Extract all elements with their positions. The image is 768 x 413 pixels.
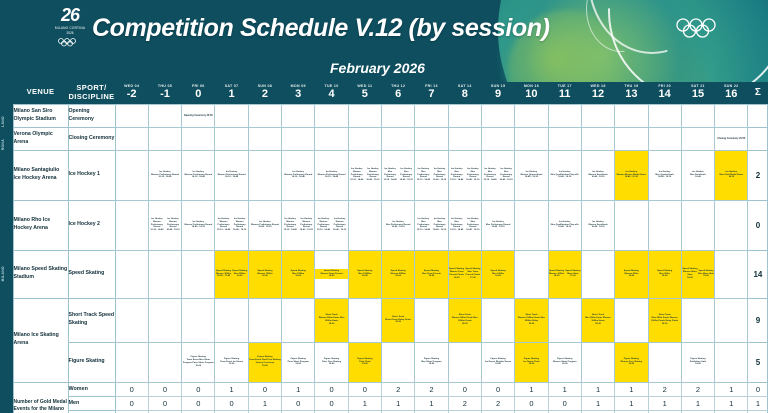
schedule-cell[interactable] [348, 200, 381, 250]
schedule-cell[interactable]: Ice HockeyWomen Preliminary Round12:10 -… [348, 150, 381, 200]
schedule-cell[interactable]: Ice HockeyMen Preliminary Round12:10 - 1… [415, 200, 448, 250]
medal-count-cell: 1 [581, 382, 614, 396]
medal-count-cell: 1 [748, 396, 768, 410]
session-entry[interactable]: Figure SkatingWomen Free Skating19:00 [615, 357, 647, 368]
medal-count-cell: 0 [115, 396, 148, 410]
session-entry[interactable]: Speed SkatingMen Mass Start15:00 [698, 267, 714, 281]
sport-discipline: Ice Hockey 2 [68, 200, 115, 250]
row-total: 2 [748, 150, 768, 200]
schedule-cell[interactable]: Figure SkatingTeam Event Men Short Progr… [182, 342, 215, 382]
medal-count-cell: 1 [715, 382, 748, 396]
schedule-cell[interactable] [581, 342, 614, 382]
medal-count-cell: 0 [748, 382, 768, 396]
session-entry[interactable]: Ice HockeyWomen Quarterfinals16:40 - 19:… [515, 170, 547, 181]
session-entry[interactable]: Ice HockeyMen Preliminary Round12:10 - 1… [449, 217, 465, 234]
schedule-cell[interactable] [115, 200, 148, 250]
session-entry[interactable]: Ice HockeyWomen Preliminary Round16:40 -… [332, 217, 348, 234]
session-entry[interactable]: Figure SkatingPairs Free Skating19:00 [315, 357, 347, 368]
schedule-cell[interactable] [715, 200, 748, 250]
session-entry[interactable]: Figure SkatingTeam Event Final Free Skat… [249, 355, 281, 369]
olympic-rings-icon [48, 38, 92, 47]
session-entry[interactable]: Speed SkatingWomen Team Pursuit16:00 [315, 269, 347, 280]
session-entry[interactable]: Ice HockeyWomen Preliminary Round16:40 -… [298, 217, 314, 234]
schedule-cell[interactable] [248, 104, 281, 127]
medal-count-cell: 1 [581, 396, 614, 410]
day-column-header-16[interactable]: SUN 2216 [715, 82, 748, 104]
session-entry[interactable]: Speed SkatingWomen Team Pursuit Finals16… [449, 267, 465, 281]
table-row: MILANOMilano San Siro Olympic StadiumOpe… [0, 104, 768, 127]
schedule-cell[interactable] [182, 298, 215, 342]
session-entry[interactable]: Figure SkatingIce Dance Rhythm Dance19:0… [482, 357, 514, 368]
medal-count-cell: 1 [615, 396, 648, 410]
schedule-cell[interactable] [348, 127, 381, 150]
schedule-cell[interactable]: Ice HockeyWomen Preliminary Round12:10 -… [315, 200, 348, 250]
schedule-cell[interactable]: Figure SkatingIce Dance Final19:00 [515, 342, 548, 382]
schedule-cell[interactable] [715, 342, 748, 382]
medal-count-cell: 0 [515, 396, 548, 410]
day-column-header-8[interactable]: SAT 148 [448, 82, 481, 104]
schedule-cell[interactable]: Ice HockeyWomen Preliminary Round16:40 -… [248, 200, 281, 250]
medal-count-row: Number of Gold Medal Events for the Mila… [0, 382, 768, 396]
session-entry[interactable]: Ice HockeyWomen Bronze Medal Game16:40 -… [615, 170, 647, 181]
schedule-cell[interactable]: Speed SkatingMen 1500m16:00 [282, 250, 315, 298]
logo-mark: 26 [48, 6, 92, 24]
session-entry[interactable]: Ice HockeyWomen Preliminary Round16:40 -… [182, 220, 214, 231]
schedule-cell[interactable] [248, 298, 281, 342]
medal-count-cell: 0 [315, 396, 348, 410]
schedule-cell[interactable] [581, 104, 614, 127]
session-entry[interactable]: Ice HockeyMen Preliminary Round16:40 - 1… [482, 220, 514, 231]
medal-count-cell: 0 [448, 382, 481, 396]
schedule-cell[interactable] [515, 200, 548, 250]
session-entry[interactable]: Ice HockeyMen Preliminary Round16:40 - 1… [431, 167, 447, 184]
schedule-cell[interactable] [215, 104, 248, 127]
schedule-cell[interactable]: Ice HockeyWomen Preliminary Round12:10 -… [148, 200, 181, 250]
schedule-cell[interactable] [548, 104, 581, 127]
schedule-cell[interactable] [415, 127, 448, 150]
medal-count-cell: 0 [548, 396, 581, 410]
schedule-cell[interactable] [115, 298, 148, 342]
day-column-header-6[interactable]: THU 126 [382, 82, 415, 104]
medal-count-cell: 0 [115, 382, 148, 396]
schedule-cell[interactable] [715, 104, 748, 127]
session-entry[interactable]: Figure SkatingTeam Event Ice Dance10:00 [215, 357, 247, 368]
medal-count-cell: 1 [515, 382, 548, 396]
session-entry[interactable]: Speed SkatingWomen Mass Start14:00 [682, 267, 698, 281]
schedule-cell[interactable]: Speed SkatingMen Team Pursuit16:00 [415, 250, 448, 298]
session-entry[interactable]: Speed SkatingWomen 500m16:00 [615, 269, 647, 280]
schedule-cell[interactable]: Opening Ceremony 20:00 [182, 104, 215, 127]
schedule-cell[interactable] [481, 104, 514, 127]
session-entry[interactable]: Figure SkatingTeam Event Men Short Progr… [182, 355, 214, 369]
schedule-cell[interactable] [282, 104, 315, 127]
schedule-cell[interactable] [715, 250, 748, 298]
schedule-cell[interactable]: Ice HockeyMen Gold Medal Game14:10 [715, 150, 748, 200]
page-banner: 26 MILANO CORTINA 2026 Competition Sched… [0, 0, 768, 82]
session-entry[interactable]: Speed SkatingMen 1000m16:00 [482, 269, 514, 280]
schedule-cell[interactable] [182, 127, 215, 150]
day-column-header-0[interactable]: FRI 060 [182, 82, 215, 104]
schedule-cell[interactable]: Speed SkatingMen 1000m16:00 [481, 250, 514, 298]
medal-count-cell: 2 [481, 396, 514, 410]
schedule-cell[interactable]: Ice HockeyWomen Preliminary Round12:10 -… [215, 200, 248, 250]
session-entry[interactable]: Ice HockeyWomen Preliminary Round16:10 -… [149, 170, 181, 181]
sport-discipline: Ice Hockey 1 [68, 150, 115, 200]
page-title: Competition Schedule V.12 (by session) [92, 14, 550, 43]
row-total: 14 [748, 250, 768, 298]
schedule-cell[interactable]: Ice HockeyWomen Preliminary Round16:10 -… [182, 150, 215, 200]
schedule-cell[interactable] [115, 127, 148, 150]
day-column-header-13[interactable]: THU 1913 [615, 82, 648, 104]
schedule-cell[interactable] [315, 127, 348, 150]
day-column-header-2[interactable]: SUN 082 [248, 82, 281, 104]
schedule-cell[interactable]: Speed SkatingMen 500m16:00 [648, 250, 681, 298]
schedule-cell[interactable] [382, 127, 415, 150]
medal-row-label: Men [68, 396, 115, 410]
schedule-cell[interactable] [148, 298, 181, 342]
table-header: VENUESPORT/DISCIPLINEWED 04-2THU 05-1FRI… [0, 82, 768, 104]
session-entry[interactable]: Speed SkatingWomen 1000m16:00 [549, 269, 565, 280]
schedule-cell[interactable]: Speed SkatingWomen Mass Start14:00Speed … [681, 250, 714, 298]
schedule-cell[interactable]: Ice HockeyMen Qualification Play-offs16:… [548, 150, 581, 200]
session-entry[interactable]: Ice HockeyMen Preliminary Round16:40 - 1… [465, 167, 481, 184]
session-entry[interactable]: Speed SkatingMen 1500m16:00 [282, 269, 314, 280]
sport-discipline: Speed Skating [68, 250, 115, 298]
schedule-cell[interactable]: Ice HockeyMen Qualification Play-offs16:… [548, 200, 581, 250]
schedule-cell[interactable]: Ice HockeyWomen Quarterfinals16:40 - 19:… [515, 150, 548, 200]
day-column-header--1[interactable]: THU 05-1 [148, 82, 181, 104]
schedule-cell[interactable]: Figure SkatingTeam Event Final Free Skat… [248, 342, 281, 382]
schedule-cell[interactable]: Short TrackWomen 1500m Finals Men 5000m … [515, 298, 548, 342]
session-entry[interactable]: Figure SkatingPairs Final19:00 [349, 357, 381, 368]
session-entry[interactable]: Speed SkatingWomen 3000m16:00 - 17:45 [215, 269, 231, 280]
session-entry[interactable]: Ice HockeyMen Preliminary Round12:10 - 1… [415, 167, 431, 184]
schedule-cell[interactable]: Figure SkatingPairs Short Program19:00 [282, 342, 315, 382]
session-entry[interactable]: Ice HockeyWomen Preliminary Round12:10 -… [349, 167, 365, 184]
session-entry[interactable]: Ice HockeyWomen Semifinals16:40 - 19:10 [582, 170, 614, 181]
schedule-cell[interactable] [515, 127, 548, 150]
medal-count-cell: 2 [448, 396, 481, 410]
table-row: VERONAVerona Olympic ArenaClosing Ceremo… [0, 127, 768, 150]
day-column-header-12[interactable]: WED 1812 [581, 82, 614, 104]
medal-count-cell: 2 [382, 382, 415, 396]
schedule-cell[interactable] [115, 342, 148, 382]
medal-count-cell: 0 [481, 382, 514, 396]
medal-count-cell: 0 [182, 396, 215, 410]
schedule-page: 26 MILANO CORTINA 2026 Competition Sched… [0, 0, 768, 413]
schedule-cell[interactable]: Short TrackMixed Team Relay Finals18:30 [382, 298, 415, 342]
session-entry[interactable]: Short TrackWomen 1500m Finals Men 5000m … [515, 313, 547, 327]
venue-name: Milano San Siro Olympic Stadium [13, 104, 68, 127]
session-entry[interactable]: Ice HockeyMen Qualification Play-offs16:… [549, 220, 581, 231]
schedule-cell[interactable] [248, 127, 281, 150]
schedule-cell[interactable]: Speed SkatingWomen 1000m16:00Speed Skati… [548, 250, 581, 298]
venue-name: Milano Speed Skating Stadium [13, 250, 68, 298]
medal-count-cell: 0 [148, 382, 181, 396]
day-column-header-1[interactable]: SAT 071 [215, 82, 248, 104]
session-entry[interactable]: Ice HockeyWomen Preliminary Round16:10 -… [182, 170, 214, 181]
venue-name: Milano Santagiulio Ice Hockey Arena [13, 150, 68, 200]
session-entry[interactable]: Short TrackWomen 500m Heats Men 1000m He… [315, 313, 347, 327]
session-entry[interactable]: Ice HockeyWomen Preliminary Round16:10 -… [215, 170, 247, 181]
session-entry[interactable]: Ice HockeyMen Preliminary Round12:10 - 1… [449, 167, 465, 184]
total-column-header: Σ [748, 82, 768, 104]
schedule-cell[interactable] [615, 200, 648, 250]
venue-name: Milano Ice Skating Arena [13, 298, 68, 382]
medal-count-cell: 0 [248, 382, 281, 396]
session-entry[interactable]: Speed SkatingMen Team Pursuit16:00 [415, 269, 447, 280]
schedule-cell[interactable] [415, 104, 448, 127]
session-entry[interactable]: Speed SkatingMen 500m16:00 [649, 269, 681, 280]
day-column-header-11[interactable]: TUE 1711 [548, 82, 581, 104]
schedule-cell[interactable] [548, 127, 581, 150]
schedule-cell[interactable] [348, 104, 381, 127]
schedule-cell[interactable]: Figure SkatingPairs Free Skating19:00 [315, 342, 348, 382]
schedule-cell[interactable] [581, 250, 614, 298]
session-entry[interactable]: Ice HockeyWomen Semifinals16:40 - 19:10 [582, 220, 614, 231]
schedule-cell[interactable] [681, 127, 714, 150]
session-entry[interactable]: Ice HockeyMen Preliminary Round16:40 - 1… [382, 220, 414, 231]
schedule-cell[interactable] [648, 104, 681, 127]
session-entry[interactable]: Ice HockeyWomen Preliminary Round16:40 -… [232, 217, 248, 234]
session-entry[interactable]: Speed SkatingMen 5000m16:00 [232, 269, 248, 280]
session-entry[interactable]: Figure SkatingExhibition Gala14:00 [682, 357, 714, 368]
schedule-cell[interactable] [215, 127, 248, 150]
schedule-cell[interactable]: Speed SkatingWomen 3000m16:00 - 17:45Spe… [215, 250, 248, 298]
session-entry[interactable]: Ice HockeyWomen Preliminary Round12:10 -… [282, 217, 298, 234]
logo-year: 2026 [48, 31, 92, 35]
schedule-cell[interactable] [448, 342, 481, 382]
schedule-cell[interactable] [115, 150, 148, 200]
schedule-cell[interactable]: Short TrackWomen 500m Heats Men 1000m He… [315, 298, 348, 342]
row-total: 9 [748, 298, 768, 342]
schedule-cell[interactable]: Ice HockeyMen Preliminary Round16:40 - 1… [481, 200, 514, 250]
session-entry[interactable]: Speed SkatingMass Start17:30 [565, 269, 581, 280]
schedule-cell[interactable] [681, 298, 714, 342]
schedule-cell[interactable]: Ice HockeyMen Preliminary Round16:40 - 1… [382, 200, 415, 250]
day-column-header--2[interactable]: WED 04-2 [115, 82, 148, 104]
medal-block-label: Number of Gold Medal Events for the Mila… [13, 382, 68, 413]
medal-count-cell: 1 [548, 382, 581, 396]
schedule-cell[interactable]: Speed SkatingWomen Team Pursuit Finals16… [448, 250, 481, 298]
session-entry[interactable]: Ice HockeyMen Semifinals16:40 [682, 170, 714, 181]
row-total: 5 [748, 342, 768, 382]
day-column-header-15[interactable]: SAT 2115 [681, 82, 714, 104]
schedule-cell[interactable]: Figure SkatingMen Short Program19:00 [415, 342, 448, 382]
session-entry[interactable]: Ice HockeyWomen Preliminary Round16:10 -… [282, 170, 314, 181]
schedule-cell[interactable]: Ice HockeyMen Preliminary Round12:10 - 1… [382, 150, 415, 200]
medal-count-cell: 0 [215, 396, 248, 410]
schedule-cell[interactable] [148, 127, 181, 150]
schedule-cell[interactable]: Short TrackMen 500m Finals Women 1000m F… [648, 298, 681, 342]
schedule-cell[interactable] [148, 104, 181, 127]
schedule-cell[interactable]: Speed SkatingWomen Team Pursuit16:00 [315, 250, 348, 298]
schedule-cell[interactable]: Ice HockeyMen Preliminary Round12:10 - 1… [448, 150, 481, 200]
session-entry[interactable]: Ice HockeyWomen Preliminary Round12:10 -… [149, 217, 165, 234]
schedule-cell[interactable]: Ice HockeyMen Quarterfinals16:40 - 19:10 [648, 150, 681, 200]
schedule-cell[interactable] [581, 127, 614, 150]
schedule-cell[interactable]: Ice HockeyWomen Bronze Medal Game16:40 -… [615, 150, 648, 200]
schedule-cell[interactable]: Ice HockeyWomen Preliminary Round16:40 -… [182, 200, 215, 250]
medal-count-cell: 0 [182, 382, 215, 396]
olympic-rings-icon-header [674, 18, 726, 43]
schedule-cell[interactable]: Ice HockeyMen Preliminary Round12:10 - 1… [448, 200, 481, 250]
schedule-cell[interactable]: Ice HockeyMen Preliminary Round12:10 - 1… [415, 150, 448, 200]
session-entry[interactable]: Ice HockeyWomen Preliminary Round16:10 -… [315, 170, 347, 181]
session-entry[interactable]: Ice HockeyMen Preliminary Round16:40 - 1… [498, 167, 514, 184]
schedule-cell[interactable] [681, 200, 714, 250]
medal-row-label: Women [68, 382, 115, 396]
schedule-cell[interactable] [315, 104, 348, 127]
schedule-cell[interactable] [382, 104, 415, 127]
ceremony-session: Opening Ceremony 20:00 [182, 114, 214, 117]
schedule-cell[interactable] [382, 342, 415, 382]
schedule-cell[interactable]: Ice HockeyWomen Preliminary Round12:10 -… [282, 200, 315, 250]
schedule-cell[interactable] [615, 104, 648, 127]
schedule-cell[interactable]: Figure SkatingWomen Free Skating19:00 [615, 342, 648, 382]
medal-count-cell: 1 [615, 382, 648, 396]
schedule-cell[interactable] [648, 342, 681, 382]
day-column-header-3[interactable]: MON 093 [282, 82, 315, 104]
schedule-cell[interactable] [648, 200, 681, 250]
schedule-cell[interactable]: Speed SkatingMen 10000m16:00 [348, 250, 381, 298]
schedule-cell[interactable]: Figure SkatingWomen Short Program19:00 [548, 342, 581, 382]
schedule-cell[interactable] [515, 250, 548, 298]
schedule-cell[interactable]: Short TrackMen 500m Heats Women 1000m He… [581, 298, 614, 342]
schedule-cell[interactable] [215, 298, 248, 342]
day-column-header-10[interactable]: MON 1610 [515, 82, 548, 104]
zone-label: VERONA [0, 127, 13, 150]
schedule-cell[interactable] [548, 298, 581, 342]
sport-discipline: Opening Ceremony [68, 104, 115, 127]
medal-count-cell: 1 [215, 382, 248, 396]
schedule-cell[interactable] [182, 250, 215, 298]
schedule-cell[interactable]: Closing Ceremony 20:00 [715, 127, 748, 150]
schedule-cell[interactable] [615, 127, 648, 150]
schedule-table-wrap: VENUESPORT/DISCIPLINEWED 04-2THU 05-1FRI… [0, 82, 768, 413]
schedule-cell[interactable] [481, 298, 514, 342]
venue-name: Milano Rho Ice Hockey Arena [13, 200, 68, 250]
session-entry[interactable]: Ice HockeyMen Preliminary Round12:10 - 1… [382, 167, 398, 184]
session-entry[interactable]: Speed SkatingMen Team Pursuit Finals17:0… [465, 267, 481, 281]
session-entry[interactable]: Ice HockeyMen Gold Medal Game14:10 [715, 170, 747, 181]
session-entry[interactable]: Ice HockeyWomen Preliminary Round12:10 -… [215, 217, 231, 234]
schedule-cell[interactable] [415, 298, 448, 342]
sport-discipline: Short Track Speed Skating [68, 298, 115, 342]
session-entry[interactable]: Short TrackMen 500m Finals Women 1000m F… [649, 313, 681, 327]
session-entry[interactable]: Ice HockeyMen Preliminary Round16:40 - 1… [431, 217, 447, 234]
day-column-header-14[interactable]: FRI 2014 [648, 82, 681, 104]
medal-count-cell: 1 [648, 396, 681, 410]
schedule-cell[interactable]: Ice HockeyMen Semifinals16:40 [681, 150, 714, 200]
schedule-cell[interactable]: Ice HockeyWomen Semifinals16:40 - 19:10 [581, 150, 614, 200]
medal-count-cell: 1 [282, 382, 315, 396]
session-entry[interactable]: Short TrackWomen 500m Finals Men 1000m F… [449, 313, 481, 327]
day-column-header-9[interactable]: SUN 159 [481, 82, 514, 104]
session-entry[interactable]: Ice HockeyMen Preliminary Round16:40 - 1… [465, 217, 481, 234]
schedule-cell[interactable] [448, 127, 481, 150]
schedule-cell[interactable] [348, 298, 381, 342]
schedule-cell[interactable] [481, 127, 514, 150]
session-entry[interactable]: Figure SkatingPairs Short Program19:00 [282, 357, 314, 368]
session-entry[interactable]: Ice HockeyMen Preliminary Round16:40 - 1… [398, 167, 414, 184]
schedule-cell[interactable]: Speed SkatingWomen 500m16:00 [615, 250, 648, 298]
session-entry[interactable]: Ice HockeyWomen Preliminary Round12:10 -… [315, 217, 331, 234]
session-entry[interactable]: Ice HockeyWomen Preliminary Round16:40 -… [365, 167, 381, 184]
schedule-cell[interactable] [282, 127, 315, 150]
schedule-cell[interactable]: Ice HockeyWomen Preliminary Round16:10 -… [148, 150, 181, 200]
session-entry[interactable]: Figure SkatingMen Short Program19:00 [415, 357, 447, 368]
table-row: MILANOMilano Santagiulio Ice Hockey Aren… [0, 150, 768, 200]
schedule-cell[interactable] [715, 298, 748, 342]
session-entry[interactable]: Ice HockeyMen Preliminary Round12:10 - 1… [482, 167, 498, 184]
session-entry[interactable]: Speed SkatingWomen 5000m16:00 [382, 269, 414, 280]
session-entry[interactable]: Speed SkatingMen 10000m16:00 [349, 269, 381, 280]
schedule-cell[interactable]: Short TrackWomen 500m Finals Men 1000m F… [448, 298, 481, 342]
schedule-cell[interactable]: Ice HockeyWomen Semifinals16:40 - 19:10 [581, 200, 614, 250]
schedule-cell[interactable]: Figure SkatingPairs Final19:00 [348, 342, 381, 382]
session-entry[interactable]: Ice HockeyWomen Preliminary Round16:40 -… [165, 217, 181, 234]
schedule-cell[interactable]: Ice HockeyMen Preliminary Round12:10 - 1… [481, 150, 514, 200]
medal-count-cell: 1 [415, 396, 448, 410]
session-entry[interactable]: Speed SkatingWomen 1500m16:00 [249, 269, 281, 280]
session-entry[interactable]: Figure SkatingWomen Short Program19:00 [549, 357, 581, 368]
schedule-cell[interactable]: Figure SkatingExhibition Gala14:00 [681, 342, 714, 382]
session-entry[interactable]: Short TrackMen 500m Heats Women 1000m He… [582, 313, 614, 327]
schedule-cell[interactable]: Speed SkatingWomen 1500m16:00 [248, 250, 281, 298]
schedule-cell[interactable]: Figure SkatingTeam Event Ice Dance10:00 [215, 342, 248, 382]
day-column-header-4[interactable]: TUE 104 [315, 82, 348, 104]
medal-count-cell: 1 [715, 396, 748, 410]
schedule-cell[interactable] [248, 150, 281, 200]
table-row: Milano Speed Skating StadiumSpeed Skatin… [0, 250, 768, 298]
schedule-cell[interactable] [448, 104, 481, 127]
schedule-cell[interactable] [148, 250, 181, 298]
session-entry[interactable]: Ice HockeyMen Preliminary Round12:10 - 1… [415, 217, 431, 234]
schedule-cell[interactable] [148, 342, 181, 382]
session-entry[interactable]: Ice HockeyMen Quarterfinals16:40 - 19:10 [649, 170, 681, 181]
day-column-header-7[interactable]: FRI 137 [415, 82, 448, 104]
schedule-cell[interactable]: Ice HockeyWomen Preliminary Round16:10 -… [282, 150, 315, 200]
schedule-cell[interactable] [115, 250, 148, 298]
schedule-cell[interactable]: Speed SkatingWomen 5000m16:00 [382, 250, 415, 298]
schedule-cell[interactable]: Figure SkatingIce Dance Rhythm Dance19:0… [481, 342, 514, 382]
schedule-cell[interactable] [115, 104, 148, 127]
session-entry[interactable]: Short TrackMixed Team Relay Finals18:30 [382, 315, 414, 326]
schedule-cell[interactable]: Ice HockeyWomen Preliminary Round16:10 -… [215, 150, 248, 200]
schedule-cell[interactable]: Ice HockeyWomen Preliminary Round16:10 -… [315, 150, 348, 200]
day-column-header-5[interactable]: WED 115 [348, 82, 381, 104]
schedule-cell[interactable] [681, 104, 714, 127]
session-entry[interactable]: Figure SkatingIce Dance Final19:00 [515, 357, 547, 368]
medal-count-cell: 2 [648, 382, 681, 396]
medal-count-cell: 1 [348, 396, 381, 410]
zone-label: MILANO [0, 104, 13, 127]
row-total [748, 127, 768, 150]
schedule-cell[interactable] [515, 104, 548, 127]
schedule-cell[interactable] [648, 127, 681, 150]
medal-count-cell: 2 [681, 382, 714, 396]
table-row: Milano Ice Skating ArenaShort Track Spee… [0, 298, 768, 342]
medal-count-cell: 0 [348, 382, 381, 396]
row-total [748, 104, 768, 127]
schedule-cell[interactable] [282, 298, 315, 342]
session-entry[interactable]: Ice HockeyMen Qualification Play-offs16:… [549, 170, 581, 181]
medal-count-cell: 1 [681, 396, 714, 410]
venue-column-header: VENUE [13, 82, 68, 104]
schedule-cell[interactable] [615, 298, 648, 342]
session-entry[interactable]: Ice HockeyWomen Preliminary Round16:40 -… [249, 220, 281, 231]
